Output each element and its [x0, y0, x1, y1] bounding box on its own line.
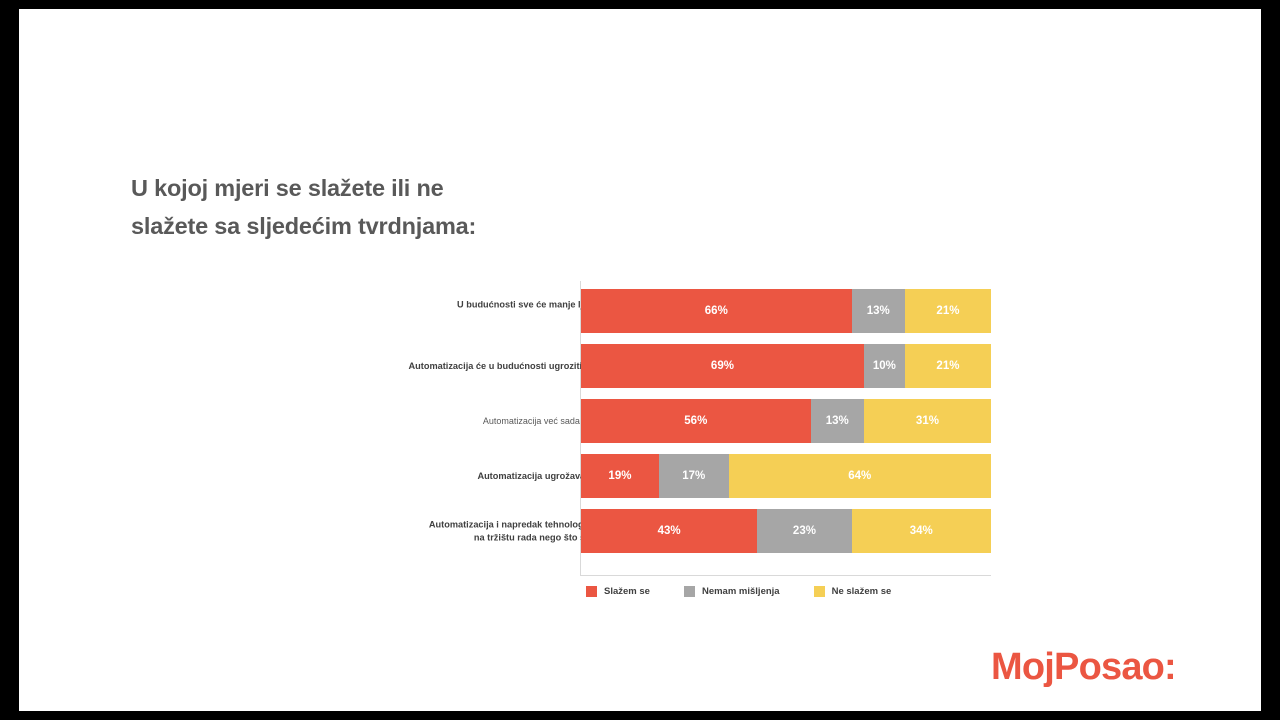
bar-segment-disagree[interactable]: 31%: [864, 399, 991, 443]
bar-segment-agree[interactable]: 56%: [581, 399, 811, 443]
stacked-bar: 69%10%21%: [581, 344, 991, 388]
value-axis-baseline: [580, 575, 991, 576]
table-row: Automatizacija i napredak tehnologije ot…: [131, 509, 1091, 553]
bar-segment-disagree[interactable]: 21%: [905, 344, 991, 388]
bar-segment-agree[interactable]: 19%: [581, 454, 659, 498]
bar-segment-neutral[interactable]: 13%: [811, 399, 864, 443]
table-row: Automatizacija ugrožava MOJE radno mjest…: [131, 454, 1091, 498]
bar-segment-neutral[interactable]: 10%: [864, 344, 905, 388]
bar-segment-neutral[interactable]: 13%: [852, 289, 905, 333]
stacked-bar: 19%17%64%: [581, 454, 991, 498]
stacked-bar-chart: U budućnosti sve će manje ljudi imati du…: [131, 281, 1091, 581]
bar-segment-agree[interactable]: 43%: [581, 509, 757, 553]
square-swatch-icon: [684, 586, 695, 597]
legend-item[interactable]: Nemam mišljenja: [684, 586, 780, 597]
legend-item[interactable]: Ne slažem se: [814, 586, 892, 597]
bar-segment-neutral[interactable]: 17%: [659, 454, 729, 498]
stacked-bar: 43%23%34%: [581, 509, 991, 553]
table-row: Automatizacija već sada ugrožava radna m…: [131, 399, 1091, 443]
bar-segment-disagree[interactable]: 21%: [905, 289, 991, 333]
legend-label: Ne slažem se: [832, 586, 892, 597]
bar-segment-agree[interactable]: 66%: [581, 289, 852, 333]
square-swatch-icon: [814, 586, 825, 597]
bar-segment-neutral[interactable]: 23%: [757, 509, 851, 553]
stacked-bar: 56%13%31%: [581, 399, 991, 443]
bar-segment-agree[interactable]: 69%: [581, 344, 864, 388]
table-row: U budućnosti sve će manje ljudi imati du…: [131, 289, 1091, 333]
bar-segment-disagree[interactable]: 34%: [852, 509, 991, 553]
bar-segment-disagree[interactable]: 64%: [729, 454, 991, 498]
mojposao-logo: MojPosao:: [991, 646, 1176, 689]
slide-canvas: U kojoj mjeri se slažete ili ne slažete …: [19, 9, 1261, 711]
square-swatch-icon: [586, 586, 597, 597]
legend-label: Slažem se: [604, 586, 650, 597]
page-title: U kojoj mjeri se slažete ili ne slažete …: [131, 169, 691, 245]
legend-item[interactable]: Slažem se: [586, 586, 650, 597]
legend-label: Nemam mišljenja: [702, 586, 780, 597]
table-row: Automatizacija će u budućnosti ugroziti …: [131, 344, 1091, 388]
stacked-bar: 66%13%21%: [581, 289, 991, 333]
chart-legend: Slažem seNemam mišljenjaNe slažem se: [586, 586, 891, 597]
